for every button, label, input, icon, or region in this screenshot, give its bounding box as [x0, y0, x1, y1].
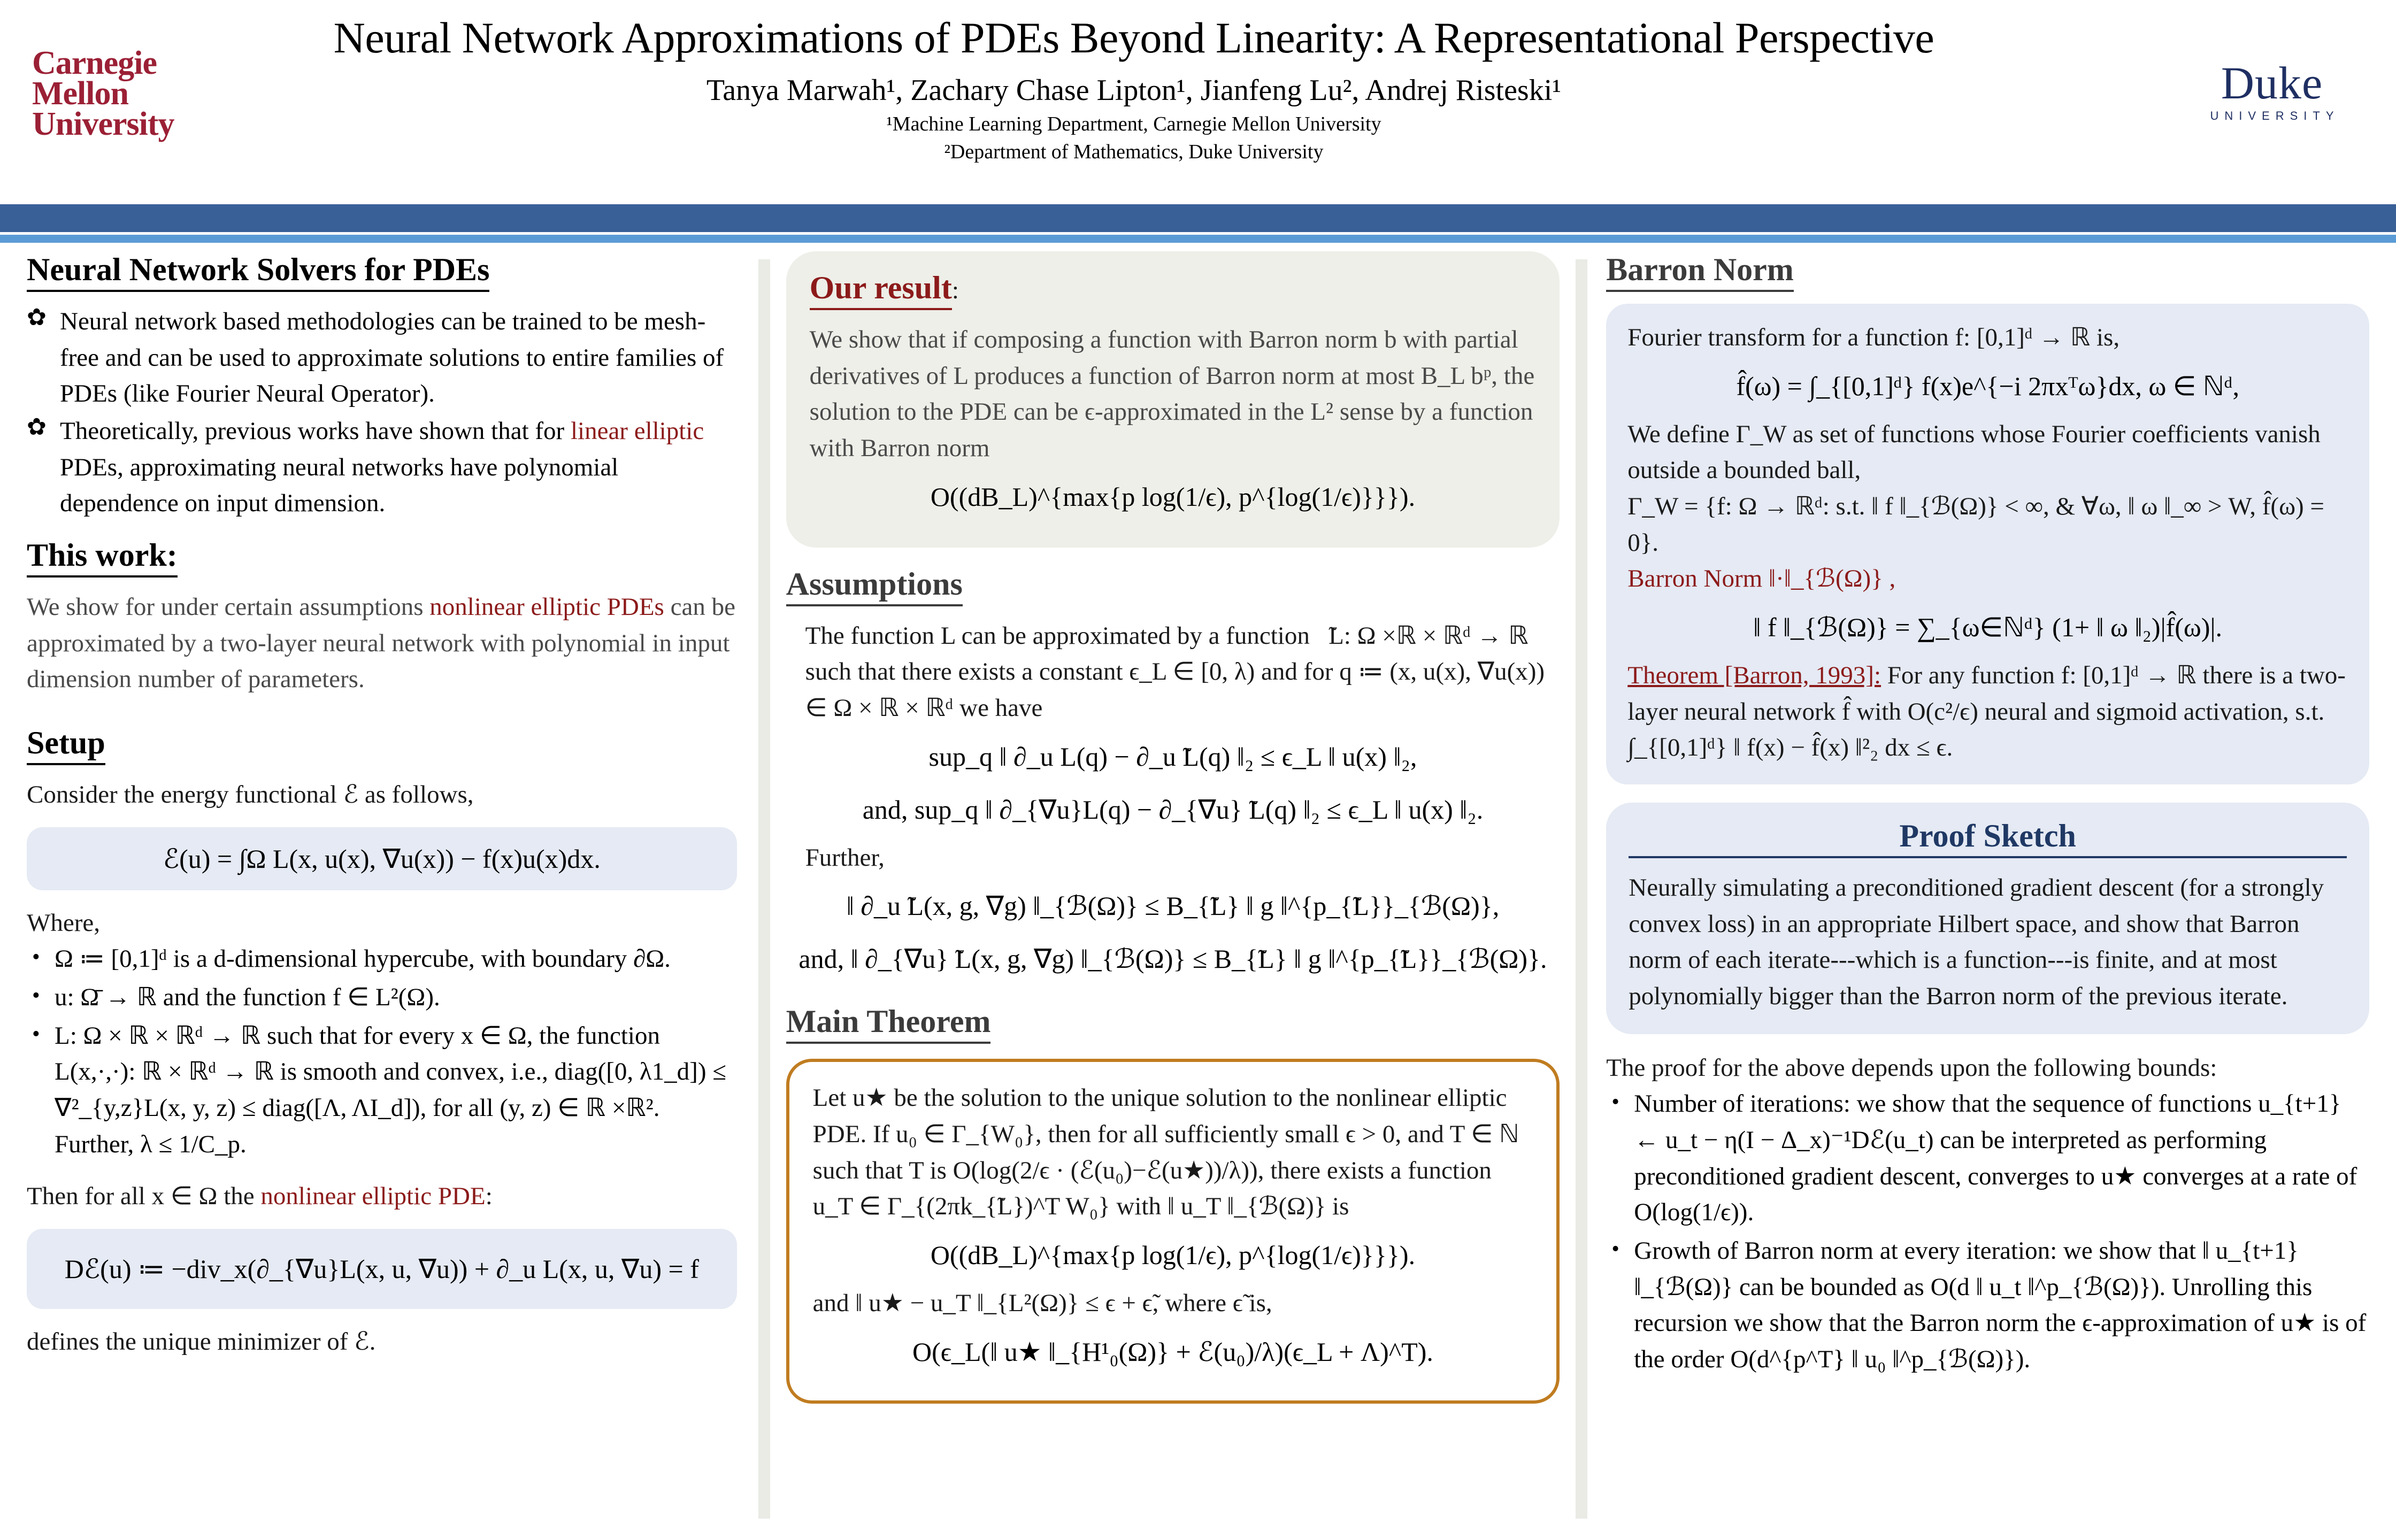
equation-barron-norm: ‖ f ‖_{ℬ(Ω)} = ∑_{ω∈ℕᵈ} (1+ ‖ ω ‖₂)|f̂(ω…: [1627, 605, 2348, 650]
this-work-highlight: nonlinear elliptic PDEs: [429, 593, 664, 621]
duke-logo-subtitle: UNIVERSITY: [2182, 109, 2368, 123]
then-part-b: :: [486, 1182, 493, 1210]
cmu-logo-line-3: University: [32, 109, 193, 140]
nn-solvers-bullets: ✿ Neural network based methodologies can…: [27, 304, 737, 522]
section-title-assumptions: Assumptions: [786, 566, 963, 606]
equation-further-2: and, ‖ ∂_{∇u} ̃L(x, g, ∇g) ‖_{ℬ(Ω)} ≤ B_…: [786, 936, 1560, 982]
column-middle: Our result: We show that if composing a …: [770, 251, 1576, 1540]
assumptions-text: The function L can be approximated by a …: [805, 618, 1560, 727]
section-title-barron-norm: Barron Norm: [1606, 251, 1794, 292]
equation-theorem-epsilon-tilde: O(ϵ_L(‖ u★ ‖_{H¹₀(Ω)} + ℰ(u₀)/λ)(ϵ_L + Λ…: [813, 1329, 1533, 1375]
setup-definitions: Ω ≔ [0,1]ᵈ is a d-dimensional hypercube,…: [27, 941, 737, 1162]
then-part-a: Then for all x ∈ Ω the: [27, 1182, 260, 1210]
this-work-part-a: We show for under certain assumptions: [27, 593, 429, 621]
page-title: Neural Network Approximations of PDEs Be…: [193, 15, 2075, 61]
main-theorem-text: Let u★ be the solution to the unique sol…: [813, 1080, 1533, 1225]
duke-logo-word: Duke: [2176, 60, 2368, 106]
affiliations: ¹Machine Learning Department, Carnegie M…: [193, 112, 2075, 165]
list-item: Number of iterations: we show that the s…: [1606, 1086, 2369, 1231]
fourier-transform-lead: Fourier transform for a function f: [0,1…: [1627, 320, 2348, 356]
author-list: Tanya Marwah¹, Zachary Chase Lipton¹, Ji…: [193, 73, 2075, 107]
flower-bullet-icon: ✿: [27, 306, 47, 329]
equation-assumption-2: and, sup_q ‖ ∂_{∇u}L(q) − ∂_{∇u} ̃L(q) ‖…: [786, 787, 1560, 833]
cmu-logo-line-1: Carnegie: [32, 48, 193, 79]
equation-nonlinear-pde: Dℰ(u) ≔ −div_x(∂_{∇u}L(x, u, ∇u)) + ∂_u …: [27, 1229, 737, 1309]
header-band-light: [0, 235, 2396, 243]
poster-columns: Neural Network Solvers for PDEs ✿ Neural…: [0, 251, 2396, 1540]
equation-further-1: ‖ ∂_u ̃L(x, g, ∇g) ‖_{ℬ(Ω)} ≤ B_{̃L} ‖ g…: [786, 883, 1560, 929]
this-work-paragraph: We show for under certain assumptions no…: [27, 589, 737, 698]
barron-theorem-citation: Theorem [Barron, 1993]:: [1627, 661, 1881, 689]
column-left: Neural Network Solvers for PDEs ✿ Neural…: [0, 251, 758, 1540]
bounds-lead-text: The proof for the above depends upon the…: [1606, 1050, 2369, 1087]
our-result-colon: :: [952, 276, 959, 304]
section-title-setup: Setup: [27, 725, 105, 765]
title-block: Neural Network Approximations of PDEs Be…: [193, 15, 2075, 165]
barron-norm-label: Barron Norm ‖·‖_{ℬ(Ω)} ,: [1627, 561, 2348, 597]
section-title-nn-solvers: Neural Network Solvers for PDEs: [27, 251, 489, 292]
list-item: Growth of Barron norm at every iteration…: [1606, 1233, 2369, 1378]
main-theorem-mid-text: and ‖ u★ − u_T ‖_{L²(Ω)} ≤ ϵ + ϵ̃, where…: [813, 1285, 1533, 1322]
setup-lead-text: Consider the energy functional ℰ as foll…: [27, 777, 737, 813]
list-item: u: Ω̄ → ℝ and the function f ∈ L²(Ω).: [27, 980, 737, 1016]
list-item: Ω ≔ [0,1]ᵈ is a d-dimensional hypercube,…: [27, 941, 737, 977]
list-item: ✿ Neural network based methodologies can…: [27, 304, 737, 412]
our-result-text: We show that if composing a function wit…: [810, 322, 1537, 467]
barron-norm-box: Fourier transform for a function f: [0,1…: [1606, 304, 2369, 784]
column-right: Barron Norm Fourier transform for a func…: [1587, 251, 2396, 1540]
duke-logo: Duke UNIVERSITY: [2176, 60, 2368, 123]
cmu-logo-line-2: Mellon: [32, 79, 193, 109]
header-band-dark: [0, 204, 2396, 232]
cmu-logo: Carnegie Mellon University: [32, 48, 193, 140]
bullet-text: Neural network based methodologies can b…: [60, 307, 724, 407]
proof-sketch-box: Proof Sketch Neurally simulating a preco…: [1606, 803, 2369, 1034]
section-title-our-result: Our result: [810, 269, 952, 310]
section-title-this-work: This work:: [27, 537, 178, 577]
bullet-text-part-b: PDEs, approximating neural networks have…: [60, 453, 618, 518]
column-divider-1: [758, 259, 770, 1519]
column-divider-2: [1576, 259, 1587, 1519]
then-highlight: nonlinear elliptic PDE: [260, 1182, 485, 1210]
equation-theorem-barron-norm: O((dB_L)^{max{p log(1/ϵ), p^{log(1/ϵ)}}}…: [813, 1233, 1533, 1278]
where-label: Where,: [27, 905, 737, 942]
further-label: Further,: [805, 840, 1560, 876]
main-theorem-box: Let u★ be the solution to the unique sol…: [786, 1059, 1560, 1403]
bullet-text-part-a: Theoretically, previous works have shown…: [60, 417, 571, 445]
list-item: L: Ω × ℝ × ℝᵈ → ℝ such that for every x …: [27, 1018, 737, 1163]
equation-energy-functional: ℰ(u) = ∫Ω L(x, u(x), ∇u(x)) − f(x)u(x)dx…: [27, 827, 737, 890]
proof-sketch-text: Neurally simulating a preconditioned gra…: [1629, 870, 2347, 1015]
then-for-all-line: Then for all x ∈ Ω the nonlinear ellipti…: [27, 1179, 737, 1215]
equation-assumption-1: sup_q ‖ ∂_u L(q) − ∂_u ̃L(q) ‖₂ ≤ ϵ_L ‖ …: [786, 734, 1560, 780]
equation-fourier-transform: f̂(ω) = ∫_{[0,1]ᵈ} f(x)e^{−i 2πxᵀω}dx, ω…: [1627, 364, 2348, 409]
affiliation-2: ²Department of Mathematics, Duke Univers…: [193, 140, 2075, 165]
affiliation-1: ¹Machine Learning Department, Carnegie M…: [193, 112, 2075, 137]
equation-our-result: O((dB_L)^{max{p log(1/ϵ), p^{log(1/ϵ)}}}…: [810, 474, 1537, 520]
flower-bullet-icon: ✿: [27, 415, 47, 439]
equation-gamma-w: Γ_W = {f: Ω → ℝᵈ: s.t. ‖ f ‖_{ℬ(Ω)} < ∞,…: [1627, 489, 2348, 561]
our-result-box: Our result: We show that if composing a …: [786, 251, 1560, 548]
barron-theorem-paragraph: Theorem [Barron, 1993]: For any function…: [1627, 658, 2348, 766]
section-title-proof-sketch: Proof Sketch: [1629, 818, 2347, 858]
setup-closing-text: defines the unique minimizer of ℰ.: [27, 1324, 737, 1360]
bullet-text-highlight: linear elliptic: [571, 417, 704, 445]
poster-header: Carnegie Mellon University Neural Networ…: [0, 0, 2396, 204]
proof-bounds-list: Number of iterations: we show that the s…: [1606, 1086, 2369, 1377]
list-item: ✿ Theoretically, previous works have sho…: [27, 413, 737, 522]
gamma-w-lead: We define Γ_W as set of functions whose …: [1627, 417, 2348, 489]
section-title-main-theorem: Main Theorem: [786, 1003, 991, 1044]
